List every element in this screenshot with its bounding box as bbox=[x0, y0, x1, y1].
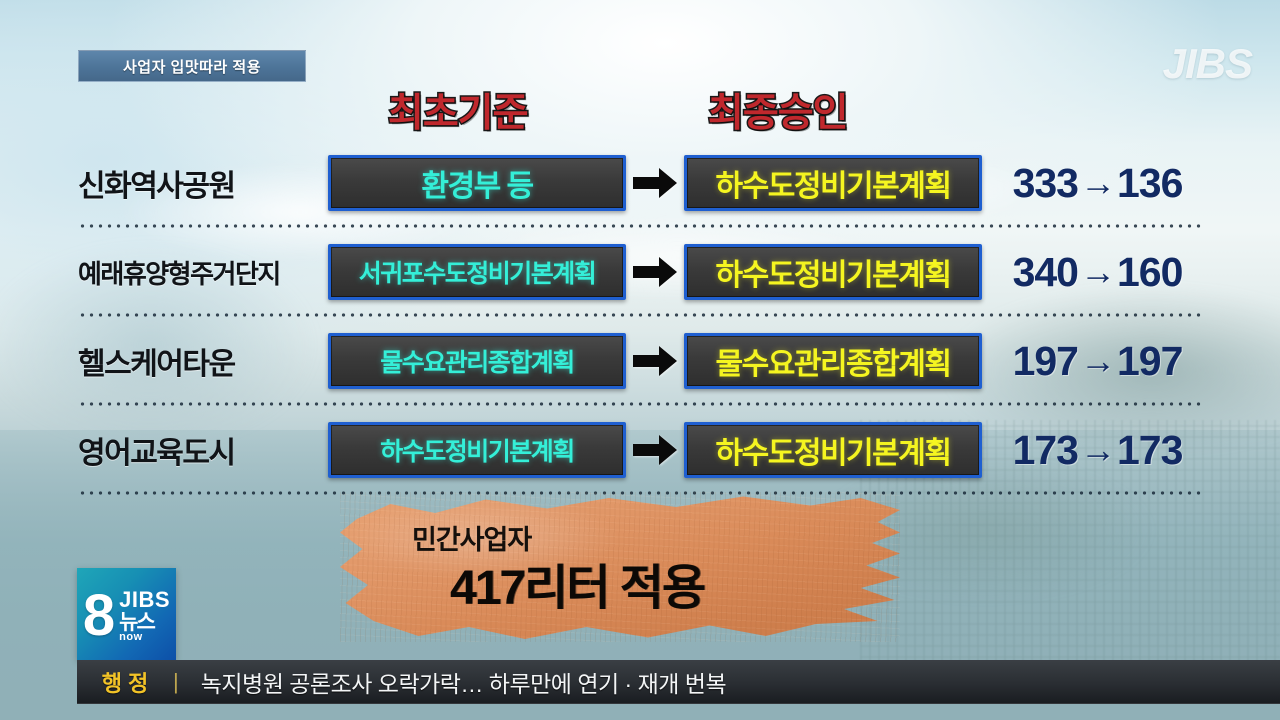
row-final-approval-label: 하수도정비기본계획 bbox=[716, 250, 951, 294]
news-ticker-bar: 행정 | 녹지병원 공론조사 오락가락… 하루만에 연기 · 재개 번복 bbox=[77, 660, 1280, 704]
caption-chip-label: 사업자 입맛따라 적용 bbox=[123, 56, 261, 77]
row-project-name: 헬스케어타운 bbox=[78, 339, 328, 383]
row-initial-standard-label: 물수요관리종합계획 bbox=[380, 343, 574, 379]
table-row: 영어교육도시 하수도정비기본계획 하수도정비기본계획 173→173 bbox=[0, 415, 1280, 504]
row-project-name: 예래휴양형주거단지 bbox=[78, 254, 328, 291]
row-value-to: 160 bbox=[1117, 249, 1182, 296]
table-row: 예래휴양형주거단지 서귀포수도정비기본계획 하수도정비기본계획 340→160 bbox=[0, 237, 1280, 326]
row-initial-standard-chip: 서귀포수도정비기본계획 bbox=[328, 244, 626, 300]
broadcast-graphic-stage: 사업자 입맛따라 적용 JIBS 최초기준 최종승인 신화역사공원 환경부 등 … bbox=[0, 0, 1280, 720]
arrow-right-icon bbox=[626, 257, 684, 287]
arrow-right-icon bbox=[626, 435, 684, 465]
row-value-arrow: → bbox=[1078, 429, 1117, 471]
row-divider bbox=[78, 402, 1205, 406]
row-project-name: 영어교육도시 bbox=[78, 428, 328, 472]
row-project-name: 신화역사공원 bbox=[78, 161, 328, 205]
logo-now-text: now bbox=[119, 632, 143, 643]
table-row: 신화역사공원 환경부 등 하수도정비기본계획 333→136 bbox=[0, 148, 1280, 237]
column-header-final-approval: 최종승인 bbox=[708, 82, 848, 138]
ticker-category: 행정 bbox=[77, 666, 173, 698]
row-liter-values: 173→173 bbox=[982, 427, 1205, 474]
row-divider bbox=[78, 313, 1205, 317]
row-value-arrow: → bbox=[1078, 251, 1117, 293]
row-value-from: 197 bbox=[1013, 338, 1078, 385]
row-initial-standard-label: 서귀포수도정비기본계획 bbox=[359, 254, 596, 290]
jibs-watermark-logo: JIBS bbox=[1163, 40, 1252, 88]
logo-brand-text: JIBS bbox=[119, 589, 170, 611]
row-divider bbox=[78, 224, 1205, 228]
row-liter-values: 333→136 bbox=[982, 160, 1205, 207]
ticker-headline: 녹지병원 공론조사 오락가락… 하루만에 연기 · 재개 번복 bbox=[201, 665, 726, 699]
row-liter-values: 197→197 bbox=[982, 338, 1205, 385]
row-liter-values: 340→160 bbox=[982, 249, 1205, 296]
row-initial-standard-label: 환경부 등 bbox=[421, 161, 532, 205]
logo-channel-number: 8 bbox=[83, 593, 115, 639]
row-final-approval-label: 물수요관리종합계획 bbox=[716, 339, 951, 383]
arrow-right-icon bbox=[626, 168, 684, 198]
row-value-arrow: → bbox=[1078, 162, 1117, 204]
row-value-from: 333 bbox=[1013, 160, 1078, 207]
caption-chip: 사업자 입맛따라 적용 bbox=[78, 50, 306, 82]
row-initial-standard-label: 하수도정비기본계획 bbox=[380, 432, 574, 468]
arrow-right-icon bbox=[626, 346, 684, 376]
row-final-approval-label: 하수도정비기본계획 bbox=[716, 428, 951, 472]
torn-paper-banner: 민간사업자 417리터 적용 bbox=[340, 492, 900, 642]
logo-news-text: 뉴스 bbox=[119, 612, 154, 633]
row-final-approval-chip: 물수요관리종합계획 bbox=[684, 333, 982, 389]
banner-line-2: 417리터 적용 bbox=[450, 548, 704, 618]
column-header-initial-standard: 최초기준 bbox=[388, 82, 528, 138]
row-value-to: 173 bbox=[1117, 427, 1182, 474]
row-final-approval-chip: 하수도정비기본계획 bbox=[684, 422, 982, 478]
row-initial-standard-chip: 환경부 등 bbox=[328, 155, 626, 211]
table-row: 헬스케어타운 물수요관리종합계획 물수요관리종합계획 197→197 bbox=[0, 326, 1280, 415]
row-initial-standard-chip: 물수요관리종합계획 bbox=[328, 333, 626, 389]
row-final-approval-chip: 하수도정비기본계획 bbox=[684, 155, 982, 211]
row-value-to: 136 bbox=[1117, 160, 1182, 207]
row-initial-standard-chip: 하수도정비기본계획 bbox=[328, 422, 626, 478]
row-value-from: 340 bbox=[1013, 249, 1078, 296]
ticker-separator: | bbox=[173, 669, 179, 695]
row-value-arrow: → bbox=[1078, 340, 1117, 382]
row-final-approval-chip: 하수도정비기본계획 bbox=[684, 244, 982, 300]
comparison-table: 신화역사공원 환경부 등 하수도정비기본계획 333→136 bbox=[0, 148, 1280, 504]
row-value-from: 173 bbox=[1013, 427, 1078, 474]
row-final-approval-label: 하수도정비기본계획 bbox=[716, 161, 951, 205]
jibs-news-now-logo: 8 JIBS 뉴스 now bbox=[77, 568, 176, 660]
row-value-to: 197 bbox=[1117, 338, 1182, 385]
